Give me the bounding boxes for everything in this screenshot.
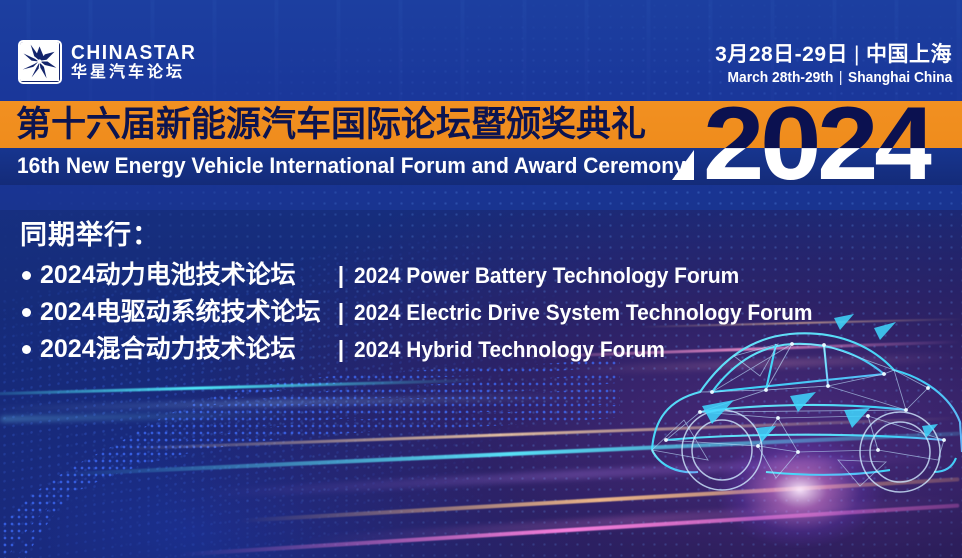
- forum-divider: |: [328, 338, 354, 361]
- concurrent-forum-list: 2024动力电池技术论坛 | 2024 Power Battery Techno…: [22, 262, 837, 363]
- list-item: 2024混合动力技术论坛 | 2024 Hybrid Technology Fo…: [22, 336, 837, 363]
- forum-divider: |: [328, 301, 354, 324]
- event-meta: 3月28日-29日|中国上海 March 28th-29th|Shanghai …: [708, 42, 952, 88]
- forum-name-en: 2024 Hybrid Technology Forum: [354, 339, 665, 361]
- event-title-cn: 第十六届新能源汽车国际论坛暨颁奖典礼: [16, 101, 646, 148]
- star-burst-logo-icon: [18, 40, 62, 84]
- forum-name-en: 2024 Power Battery Technology Forum: [354, 265, 739, 287]
- brand-name-en: CHINASTAR: [71, 43, 196, 63]
- event-location-cn: 中国上海: [866, 43, 952, 66]
- forum-divider: |: [328, 264, 354, 287]
- forum-name-cn: 2024电驱动系统技术论坛: [40, 300, 328, 325]
- concurrent-heading: 同期举行：: [20, 222, 160, 249]
- dot-bullet-icon: [22, 308, 31, 317]
- list-item: 2024动力电池技术论坛 | 2024 Power Battery Techno…: [22, 262, 837, 289]
- brand-logo: CHINASTAR 华星汽车论坛: [18, 40, 202, 84]
- forum-name-cn: 2024混合动力技术论坛: [40, 337, 328, 362]
- event-poster: CHINASTAR 华星汽车论坛 3月28日-29日|中国上海 March 28…: [0, 0, 962, 558]
- event-date-location-cn: 3月28日-29日|中国上海: [708, 42, 952, 68]
- meta-separator-en: |: [833, 69, 848, 86]
- brand-name-cn: 华星汽车论坛: [71, 65, 202, 81]
- dot-bullet-icon: [22, 345, 31, 354]
- event-date-en: March 28th-29th: [727, 69, 833, 86]
- forum-name-en: 2024 Electric Drive System Technology Fo…: [354, 302, 812, 324]
- event-title-en: 16th New Energy Vehicle International Fo…: [17, 148, 686, 185]
- forum-name-cn: 2024动力电池技术论坛: [40, 263, 328, 288]
- event-date-location-en: March 28th-29th|Shanghai China: [727, 68, 952, 88]
- triangle-accent-icon: [672, 150, 694, 180]
- dot-bullet-icon: [22, 271, 31, 280]
- meta-separator-cn: |: [848, 43, 866, 66]
- event-date-cn: 3月28日-29日: [715, 43, 848, 66]
- list-item: 2024电驱动系统技术论坛 | 2024 Electric Drive Syst…: [22, 299, 837, 326]
- event-location-en: Shanghai China: [848, 69, 952, 86]
